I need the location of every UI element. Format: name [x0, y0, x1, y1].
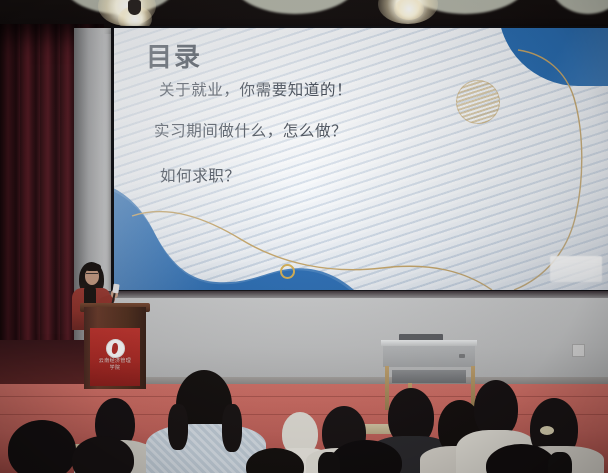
stage-floor-seam-1: [0, 396, 608, 397]
audience-hair-strand-m2: [168, 404, 188, 450]
audience-head-f1: [8, 420, 76, 473]
podium-banner-text: 云南经济管理 学院: [90, 358, 140, 372]
presenter-glasses: [86, 273, 98, 277]
lamp-housing-center: [128, 0, 141, 15]
side-table-shelf: [392, 370, 466, 383]
audience-hair-strand-m2b: [222, 404, 242, 452]
presenter-hair-fringe: [84, 263, 101, 271]
side-table-leg-1: [385, 366, 389, 410]
audience-hair-strand-f5: [548, 452, 572, 473]
side-table-knob: [459, 354, 465, 358]
audience-hair-strand-f4: [318, 452, 340, 473]
screen-vignette: [114, 28, 608, 290]
podium-banner-text-line2: 学院: [90, 365, 140, 372]
school-crest-logo: [106, 339, 125, 358]
wall-switch-plate: [572, 344, 585, 357]
presenter-phone: [112, 284, 119, 294]
projection-screen: 目录 关于就业，你需要知道的！ 实习期间做什么，怎么做？ 如何求职？: [114, 28, 608, 290]
photo-scene: 目录 关于就业，你需要知道的！ 实习期间做什么，怎么做？ 如何求职？ 云南经济管…: [0, 0, 608, 473]
audience-hair-tie: [540, 426, 554, 435]
lower-wall-shadow: [104, 291, 608, 298]
lower-wall: [104, 291, 608, 384]
podium-banner-text-line1: 云南经济管理: [90, 358, 140, 365]
screen-glare-reflection: [550, 256, 602, 282]
